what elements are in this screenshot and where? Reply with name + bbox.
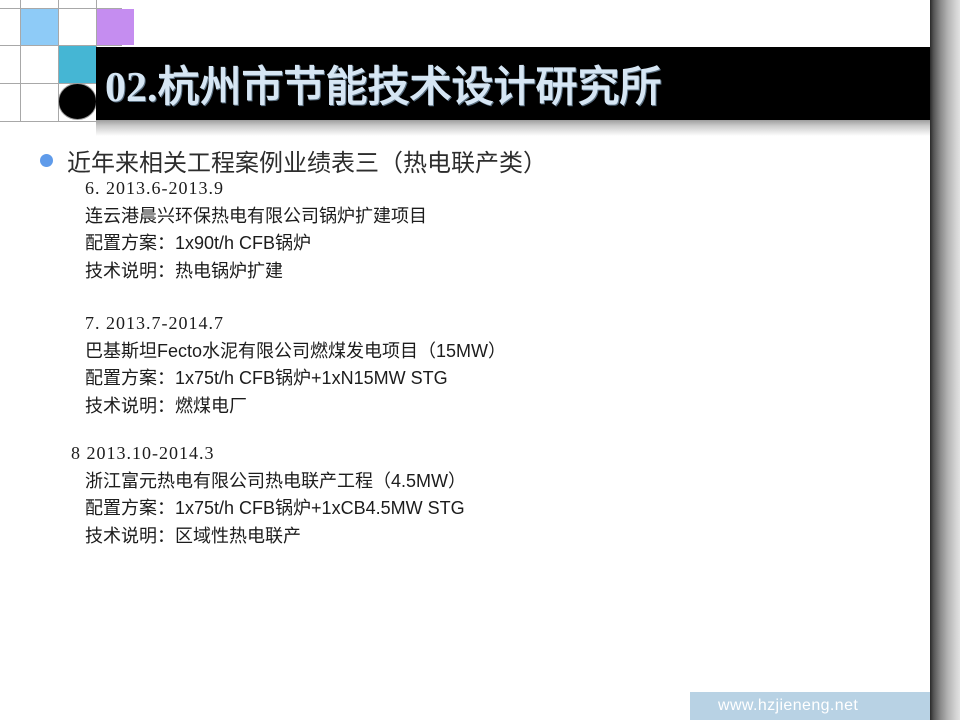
section-heading: 近年来相关工程案例业绩表三（热电联产类） — [40, 143, 547, 178]
decorative-square-purple — [97, 9, 134, 45]
entry-technical-note: 技术说明：燃煤电厂 — [85, 393, 506, 420]
bullet-icon — [40, 154, 53, 167]
entry-technical-note: 技术说明：热电锅炉扩建 — [85, 258, 427, 285]
entry-configuration: 配置方案：1x75t/h CFB锅炉+1xN15MW STG — [85, 365, 506, 392]
decorative-square-teal — [59, 46, 96, 83]
project-entry: 7. 2013.7-2014.7 巴基斯坦Fecto水泥有限公司燃煤发电项目（1… — [85, 313, 506, 420]
decorative-square-blue — [21, 9, 58, 45]
page-title: 02.杭州市节能技术设计研究所 — [105, 53, 662, 114]
title-bar-shadow — [96, 120, 934, 136]
presentation-slide: 02.杭州市节能技术设计研究所 近年来相关工程案例业绩表三（热电联产类） 6. … — [0, 0, 960, 720]
decorative-circle-black — [58, 83, 97, 120]
entry-technical-note: 技术说明：区域性热电联产 — [71, 523, 466, 550]
entry-configuration: 配置方案：1x90t/h CFB锅炉 — [85, 230, 427, 257]
section-heading-label: 近年来相关工程案例业绩表三（热电联产类） — [67, 143, 547, 178]
footer-website-url: www.hzjieneng.net — [718, 697, 858, 715]
entry-project-name: 连云港晨兴环保热电有限公司锅炉扩建项目 — [85, 203, 427, 230]
entry-number-date: 7. 2013.7-2014.7 — [85, 313, 506, 334]
entry-number-date: 8 2013.10-2014.3 — [71, 443, 466, 464]
project-entry: 8 2013.10-2014.3 浙江富元热电有限公司热电联产工程（4.5MW）… — [71, 443, 466, 550]
entry-project-name: 巴基斯坦Fecto水泥有限公司燃煤发电项目（15MW） — [85, 338, 506, 365]
entry-configuration: 配置方案：1x75t/h CFB锅炉+1xCB4.5MW STG — [71, 495, 466, 522]
right-edge-gradient-strip — [930, 0, 960, 720]
entry-project-name: 浙江富元热电有限公司热电联产工程（4.5MW） — [71, 468, 466, 495]
entry-number-date: 6. 2013.6-2013.9 — [85, 178, 427, 199]
project-entry: 6. 2013.6-2013.9 连云港晨兴环保热电有限公司锅炉扩建项目 配置方… — [85, 178, 427, 285]
